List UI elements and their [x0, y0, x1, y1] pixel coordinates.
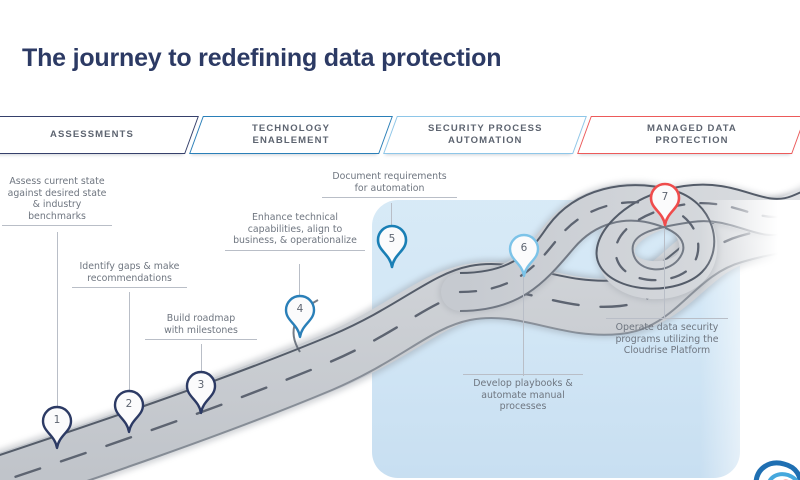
- pin-number: 4: [284, 303, 316, 315]
- label-rule: [463, 374, 583, 375]
- phase-banner-technology-enablement[interactable]: Technology Enablement: [189, 116, 393, 154]
- label-rule: [225, 250, 365, 251]
- phase-banner-label: Assessments: [50, 129, 134, 141]
- label-rule: [145, 339, 257, 340]
- phase-banner-security-process-automation[interactable]: Security Process Automation: [383, 116, 587, 154]
- leader-line-1: [57, 232, 58, 407]
- milestone-text: Operate data security programs utilizing…: [606, 322, 728, 357]
- milestone-pin-1[interactable]: 1: [41, 405, 73, 449]
- label-rule: [72, 287, 187, 288]
- leader-line-6: [523, 272, 524, 376]
- milestone-label-4: Enhance technical capabilities, align to…: [225, 212, 365, 251]
- phase-banner-managed-data-protection[interactable]: Managed Data Protection: [577, 116, 800, 154]
- phase-banner-label: Technology Enablement: [252, 123, 330, 147]
- label-rule: [2, 225, 112, 226]
- milestone-label-2: Identify gaps & make recommendations: [72, 261, 187, 288]
- milestone-text: Build roadmap with milestones: [145, 313, 257, 336]
- milestone-pin-3[interactable]: 3: [185, 370, 217, 414]
- cloudrise-logo: [746, 444, 800, 480]
- milestone-pin-6[interactable]: 6: [508, 233, 540, 277]
- pin-number: 3: [185, 379, 217, 391]
- milestone-text: Identify gaps & make recommendations: [72, 261, 187, 284]
- milestone-label-3: Build roadmap with milestones: [145, 313, 257, 340]
- label-rule: [606, 318, 728, 319]
- milestone-pin-2[interactable]: 2: [113, 389, 145, 433]
- phase-banner-label: Security Process Automation: [428, 123, 543, 147]
- milestone-label-6: Develop playbooks & automate manual proc…: [463, 374, 583, 413]
- slide-canvas: The journey to redefining data protectio…: [0, 0, 800, 480]
- milestone-label-5: Document requirements for automation: [322, 171, 457, 198]
- label-rule: [322, 197, 457, 198]
- milestone-label-1: Assess current state against desired sta…: [2, 176, 112, 226]
- milestone-text: Enhance technical capabilities, align to…: [225, 212, 365, 247]
- phase-banner-assessments[interactable]: Assessments: [0, 116, 199, 154]
- milestone-text: Assess current state against desired sta…: [2, 176, 112, 222]
- pin-number: 6: [508, 242, 540, 254]
- milestone-label-7: Operate data security programs utilizing…: [606, 318, 728, 357]
- leader-line-4: [299, 264, 300, 297]
- pin-number: 2: [113, 398, 145, 410]
- milestone-text: Develop playbooks & automate manual proc…: [463, 378, 583, 413]
- page-title: The journey to redefining data protectio…: [22, 44, 501, 73]
- leader-line-7: [664, 228, 665, 319]
- phase-banner-label: Managed Data Protection: [647, 123, 737, 147]
- milestone-pin-4[interactable]: 4: [284, 294, 316, 338]
- pin-number: 1: [41, 414, 73, 426]
- milestone-pin-7[interactable]: 7: [649, 182, 681, 226]
- pin-number: 7: [649, 191, 681, 203]
- milestone-text: Document requirements for automation: [322, 171, 457, 194]
- pin-number: 5: [376, 233, 408, 245]
- milestone-pin-5[interactable]: 5: [376, 224, 408, 268]
